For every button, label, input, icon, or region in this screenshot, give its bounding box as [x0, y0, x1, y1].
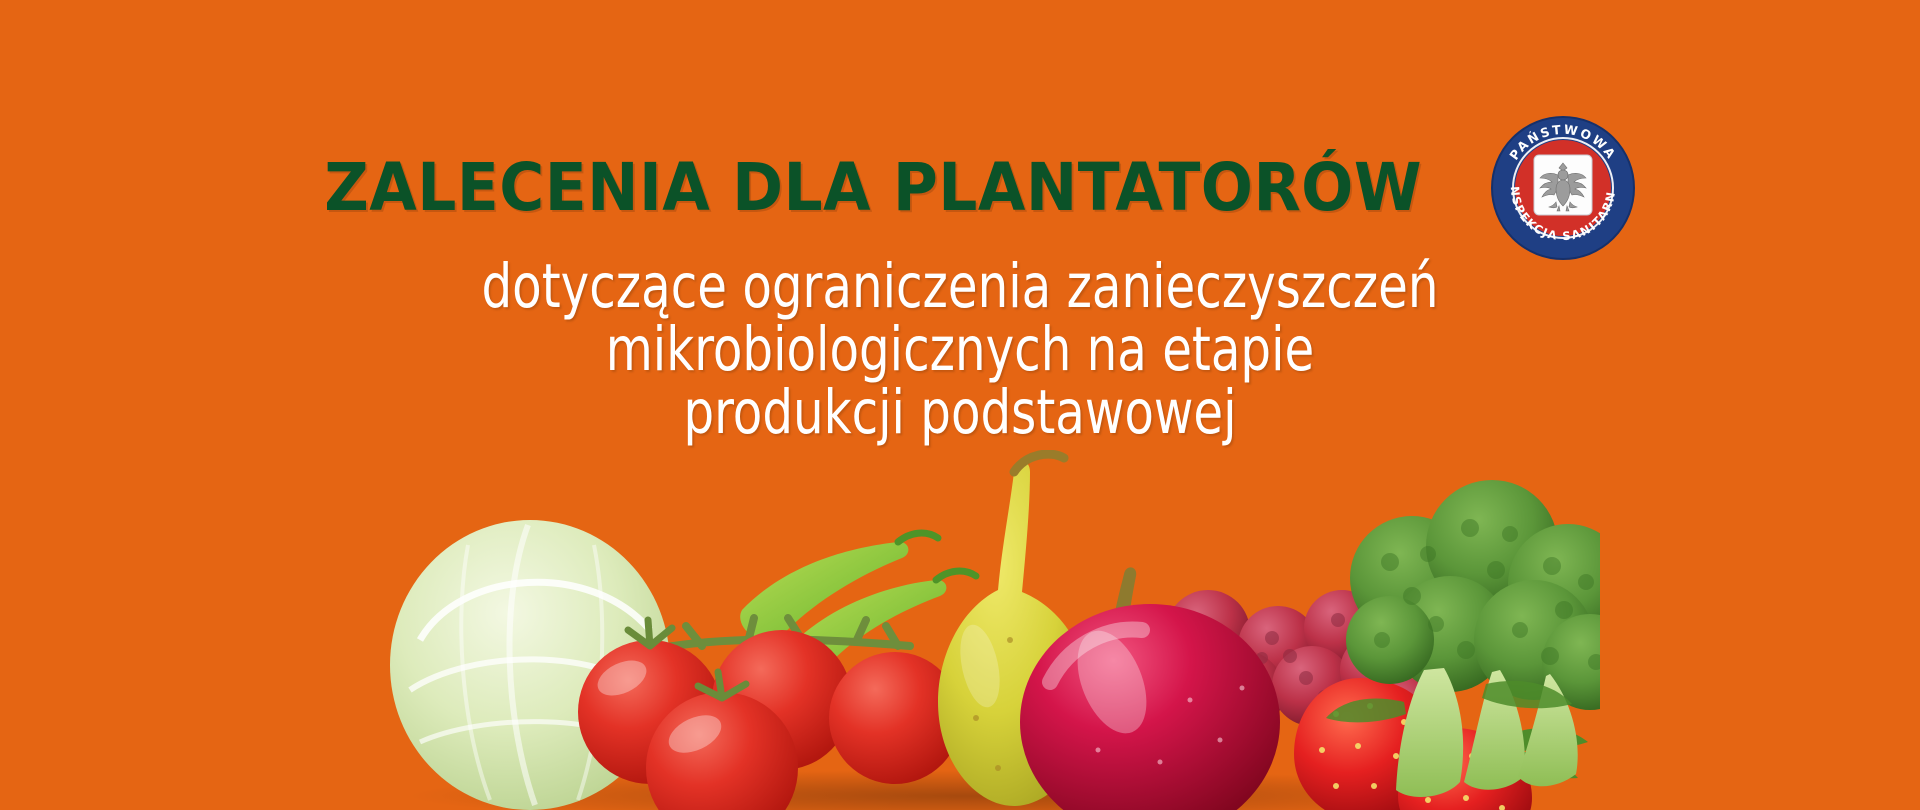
subtitle-line-1: dotyczące ograniczenia zanieczyszczeń: [115, 255, 1805, 318]
subtitle-line-2: mikrobiologicznych na etapie: [115, 318, 1805, 381]
panstwowa-inspekcja-sanitarna-logo: PAŃSTWOWA INSPEKCJA SANITARNA: [1489, 114, 1637, 262]
produce-image: [350, 450, 1600, 810]
subtitle: dotyczące ograniczenia zanieczyszczeń mi…: [0, 255, 1920, 444]
poster-banner: ZALECENIA DLA PLANTATORÓW: [0, 0, 1920, 810]
subtitle-line-3: produkcji podstawowej: [115, 381, 1805, 444]
page-title: ZALECENIA DLA PLANTATORÓW: [324, 155, 1422, 221]
red-apple-icon: [1020, 567, 1280, 810]
header-row: ZALECENIA DLA PLANTATORÓW: [0, 140, 1920, 236]
